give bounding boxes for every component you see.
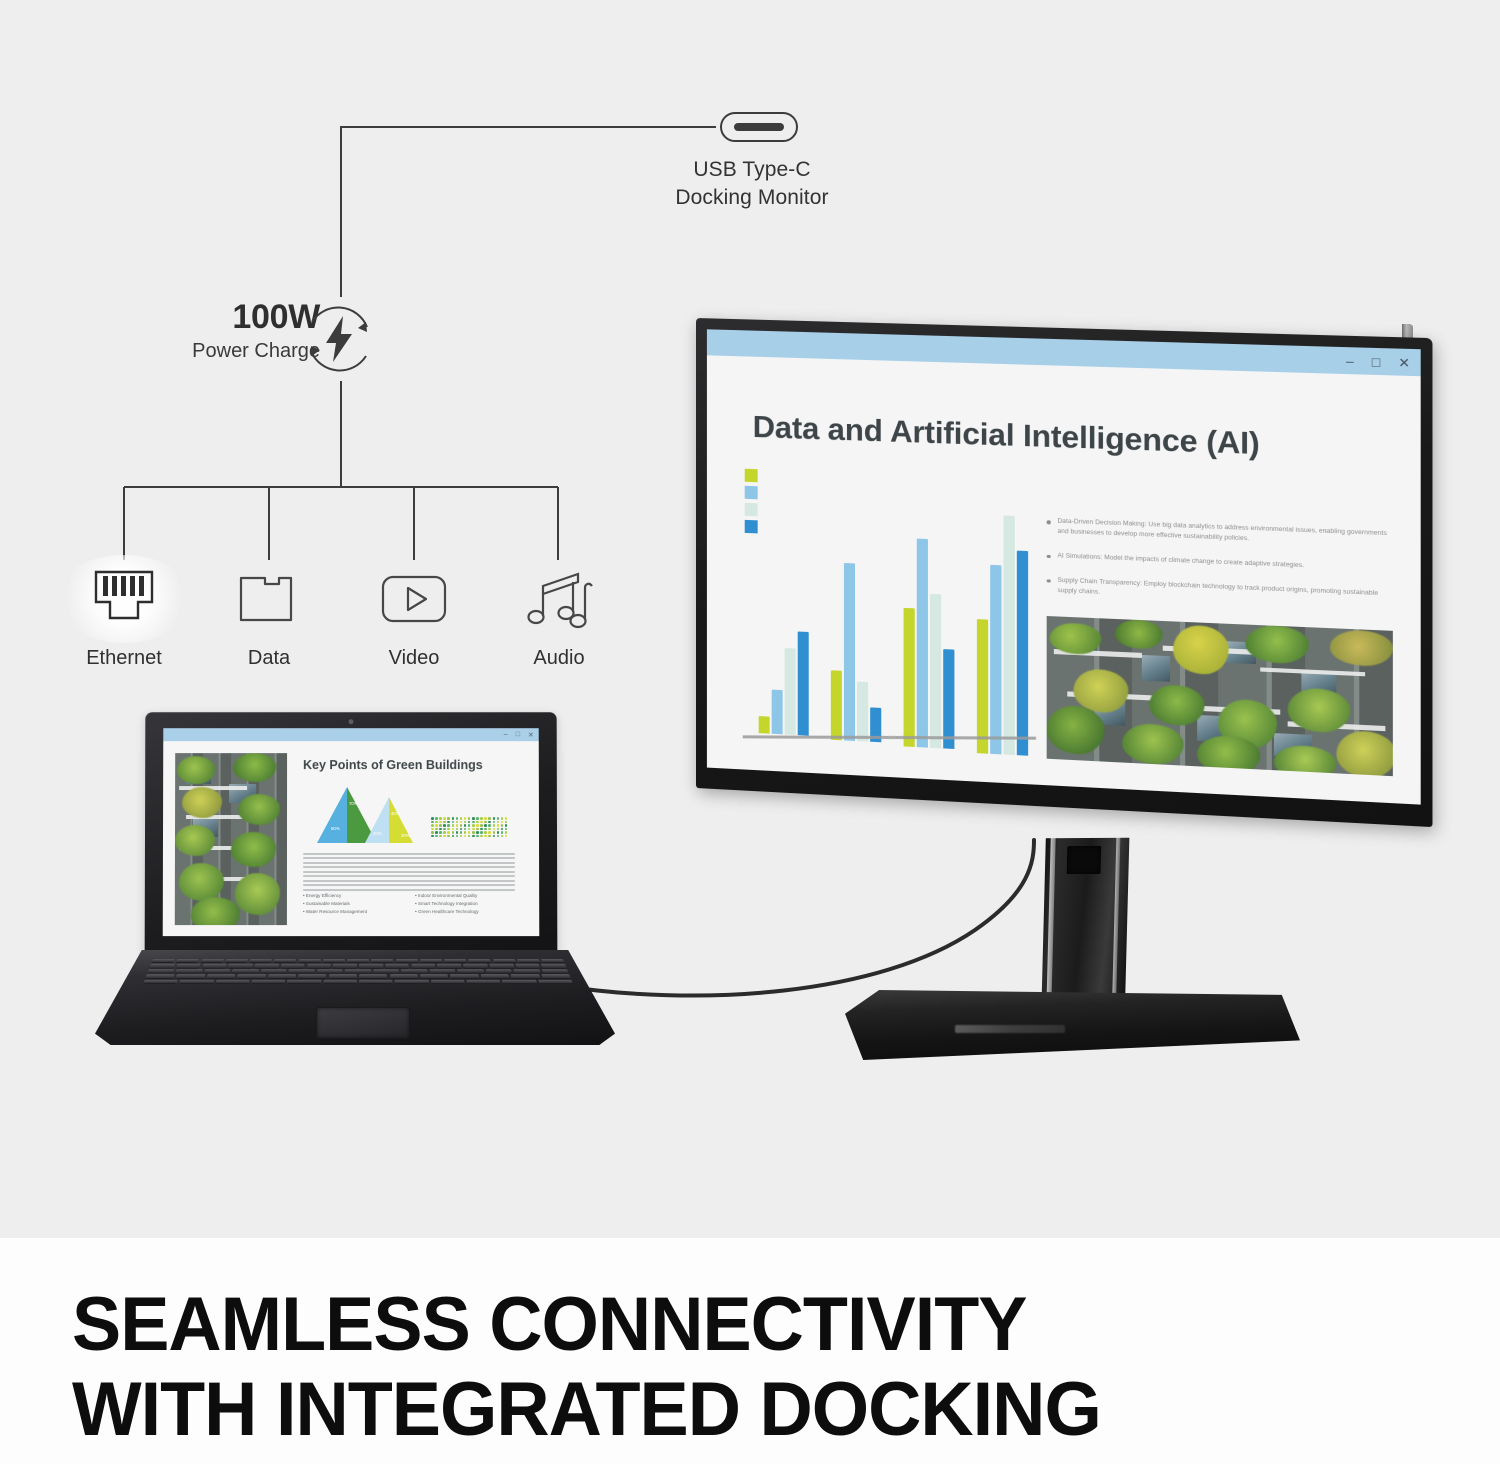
keyboard-key[interactable] xyxy=(359,980,393,984)
green-building-art xyxy=(175,753,287,925)
dot xyxy=(439,821,442,824)
dot xyxy=(439,817,442,820)
keyboard-key[interactable] xyxy=(431,980,465,984)
keyboard-key[interactable] xyxy=(206,974,235,978)
keyboard-key[interactable] xyxy=(511,974,540,978)
svg-text:30%: 30% xyxy=(401,833,410,838)
keyboard-key[interactable] xyxy=(359,974,387,978)
keyboard-key[interactable] xyxy=(237,974,266,978)
docking-monitor: – □ ✕ Data and Artificial Intelligence (… xyxy=(696,318,1422,858)
keyboard-key[interactable] xyxy=(480,974,509,978)
bar xyxy=(1003,515,1014,755)
dot xyxy=(505,821,508,824)
list-item: AI Simulations: Model the impacts of cli… xyxy=(1047,551,1393,575)
keyboard-key[interactable] xyxy=(179,980,214,984)
dot xyxy=(451,824,454,827)
dot xyxy=(472,817,475,820)
folder-icon xyxy=(199,555,339,643)
dot xyxy=(476,831,479,834)
lightning-bolt-charge-icon xyxy=(300,300,378,378)
triangle-infographic: 70% 50% 40% 20% 30% xyxy=(313,783,425,847)
keyboard-key[interactable] xyxy=(202,964,227,968)
keyboard-key[interactable] xyxy=(541,969,568,973)
dot xyxy=(439,831,442,834)
close-icon[interactable]: ✕ xyxy=(528,731,534,739)
bullet-text: Green Healthcare Technology xyxy=(418,909,479,914)
list-item: Data-Driven Decision Making: Use big dat… xyxy=(1047,516,1393,550)
bar xyxy=(772,689,783,734)
keyboard-key[interactable] xyxy=(307,964,331,968)
dot xyxy=(480,828,483,831)
keyboard-key[interactable] xyxy=(176,969,203,973)
keyboard-key[interactable] xyxy=(502,980,537,984)
ethernet-rj45-icon xyxy=(54,555,194,643)
keyboard-row xyxy=(147,969,568,973)
headline: SEAMLESS CONNECTIVITY WITH INTEGRATED DO… xyxy=(72,1282,1391,1452)
maximize-icon[interactable]: □ xyxy=(1372,355,1380,369)
laptop-window-controls[interactable]: – □ ✕ xyxy=(504,728,534,741)
usb-c-label: USB Type-C Docking Monitor xyxy=(617,156,887,211)
keyboard-key[interactable] xyxy=(228,964,253,968)
bullet-text: AI Simulations: Model the impacts of cli… xyxy=(1057,551,1304,571)
dot xyxy=(460,835,463,838)
dot xyxy=(456,828,459,831)
bar xyxy=(917,539,928,748)
dot xyxy=(431,817,434,820)
dot xyxy=(505,835,508,838)
keyboard-key[interactable] xyxy=(489,964,514,968)
dot xyxy=(484,824,487,827)
monitor-bezel: – □ ✕ Data and Artificial Intelligence (… xyxy=(696,318,1432,827)
dot xyxy=(451,828,454,831)
bar xyxy=(759,716,770,734)
laptop-slide-title: Key Points of Green Buildings xyxy=(303,758,483,772)
keyboard-key[interactable] xyxy=(347,959,369,963)
keyboard-key[interactable] xyxy=(466,980,501,984)
bar xyxy=(990,565,1001,755)
keyboard-key[interactable] xyxy=(420,974,449,978)
keyboard-key[interactable] xyxy=(298,974,327,978)
dot xyxy=(492,831,495,834)
bullet-dot xyxy=(1047,520,1051,524)
dot xyxy=(492,828,495,831)
keyboard-key[interactable] xyxy=(485,969,512,973)
keyboard-key[interactable] xyxy=(457,969,484,973)
chart-plot-area xyxy=(753,507,1037,747)
dot xyxy=(497,821,500,824)
keyboard-key[interactable] xyxy=(345,969,371,973)
dot xyxy=(484,817,487,820)
dot xyxy=(435,824,438,827)
dot xyxy=(452,835,455,838)
keyboard-key[interactable] xyxy=(215,980,250,984)
dot xyxy=(460,817,463,820)
monitor-screen: – □ ✕ Data and Artificial Intelligence (… xyxy=(707,329,1421,804)
keyboard-key[interactable] xyxy=(281,964,305,968)
dot xyxy=(468,817,471,820)
laptop-slide-bullets: • Energy Efficiency • Indoor Environment… xyxy=(303,893,521,916)
dot xyxy=(435,828,438,831)
dot xyxy=(439,835,442,838)
port-video: Video xyxy=(344,555,484,670)
dot xyxy=(464,817,467,820)
keyboard-key[interactable] xyxy=(541,974,571,978)
keyboard-key[interactable] xyxy=(541,964,566,968)
dot xyxy=(456,824,459,827)
svg-text:50%: 50% xyxy=(331,826,340,831)
bar xyxy=(930,594,941,748)
dot xyxy=(476,828,479,831)
keyboard-key[interactable] xyxy=(232,969,259,973)
dot xyxy=(435,817,438,820)
keyboard-key[interactable] xyxy=(385,964,409,968)
dot xyxy=(456,821,459,824)
dot xyxy=(480,831,483,834)
bar-group xyxy=(759,630,809,736)
keyboard-row xyxy=(143,980,573,984)
bullet-text: Energy Efficiency xyxy=(306,893,341,898)
keyboard-key[interactable] xyxy=(287,980,321,984)
port-label: Ethernet xyxy=(54,647,194,670)
port-icon-row: Ethernet Data Video xyxy=(60,555,620,690)
dot xyxy=(468,821,471,824)
port-audio: Audio xyxy=(489,555,629,670)
list-item: • Energy Efficiency xyxy=(303,893,409,900)
bar xyxy=(831,671,842,741)
monitor-slide: Data and Artificial Intelligence (AI) xyxy=(707,355,1421,804)
dot xyxy=(439,828,442,831)
dot xyxy=(484,831,487,834)
list-item: • Smart Technology Integration xyxy=(415,901,521,908)
laptop-window-titlebar: – □ ✕ xyxy=(163,728,538,741)
dot xyxy=(505,824,508,827)
headline-line2: WITH INTEGRATED DOCKING xyxy=(72,1367,1391,1452)
svg-text:40%: 40% xyxy=(391,811,400,816)
bullet-text: Supply Chain Transparency: Employ blockc… xyxy=(1057,575,1392,609)
keyboard-key[interactable] xyxy=(541,959,565,963)
keyboard-key[interactable] xyxy=(251,980,285,984)
keyboard-key[interactable] xyxy=(289,969,315,973)
keyboard-key[interactable] xyxy=(371,959,393,963)
dot xyxy=(497,817,500,820)
dot xyxy=(431,821,434,824)
keyboard-key[interactable] xyxy=(411,964,435,968)
laptop-slide: Key Points of Green Buildings 70% 50% 40… xyxy=(163,741,540,936)
bullet-text: Smart Technology Integration xyxy=(418,901,478,906)
bar xyxy=(904,608,915,747)
dot xyxy=(497,831,500,834)
dot xyxy=(435,821,438,824)
dot xyxy=(451,817,454,820)
dot xyxy=(501,824,504,827)
keyboard-key[interactable] xyxy=(429,969,456,973)
dot xyxy=(443,821,446,824)
keyboard-key[interactable] xyxy=(143,980,178,984)
stand-cable-port xyxy=(1067,846,1102,874)
dot xyxy=(472,821,475,824)
legend-swatch xyxy=(745,486,758,500)
bullet-dot xyxy=(1047,579,1051,583)
usb-c-label-line1: USB Type-C xyxy=(617,156,887,184)
bar-group xyxy=(977,514,1028,755)
keyboard-key[interactable] xyxy=(493,959,516,963)
bar xyxy=(1017,551,1028,756)
keyboard-key[interactable] xyxy=(538,980,573,984)
keyboard-key[interactable] xyxy=(389,974,418,978)
dot xyxy=(480,821,483,824)
minimize-icon[interactable]: – xyxy=(504,731,508,738)
headline-line1: SEAMLESS CONNECTIVITY xyxy=(72,1282,1391,1367)
keyboard-key[interactable] xyxy=(513,969,540,973)
keyboard-key[interactable] xyxy=(249,959,272,963)
dot xyxy=(501,821,504,824)
keyboard-key[interactable] xyxy=(420,959,443,963)
keyboard-key[interactable] xyxy=(267,974,296,978)
keyboard-key[interactable] xyxy=(317,969,343,973)
dot xyxy=(456,817,459,820)
dot xyxy=(464,821,467,824)
dot xyxy=(468,835,471,838)
keyboard-key[interactable] xyxy=(200,959,223,963)
dot xyxy=(488,831,491,834)
dot xyxy=(443,817,446,820)
dot xyxy=(468,831,471,834)
power-charge-caption: Power Charge xyxy=(90,341,320,361)
keyboard-key[interactable] xyxy=(468,959,491,963)
bar-group xyxy=(831,562,881,742)
dot xyxy=(488,828,491,831)
keyboard-key[interactable] xyxy=(147,969,174,973)
usb-c-port-icon xyxy=(720,112,798,142)
list-item: • Sustainable Materials xyxy=(303,901,409,908)
dot xyxy=(472,831,475,834)
keyboard-key[interactable] xyxy=(225,959,248,963)
bar-group xyxy=(904,538,955,749)
dot xyxy=(501,828,504,831)
dot xyxy=(492,824,495,827)
dot xyxy=(451,821,454,824)
port-label: Data xyxy=(199,647,339,670)
dot xyxy=(431,824,434,827)
play-button-icon xyxy=(344,555,484,643)
dot xyxy=(497,835,500,838)
laptop-screen: – □ ✕ xyxy=(163,728,540,936)
dot xyxy=(476,821,479,824)
svg-text:20%: 20% xyxy=(373,831,382,836)
keyboard-key[interactable] xyxy=(254,964,279,968)
keyboard-key[interactable] xyxy=(450,974,479,978)
port-data: Data xyxy=(199,555,339,670)
dot xyxy=(447,835,450,838)
dot xyxy=(476,824,479,827)
power-wattage: 100W xyxy=(90,300,320,334)
list-item: • Water Resource Management xyxy=(303,909,409,916)
bar xyxy=(798,632,809,736)
dot xyxy=(505,831,508,834)
laptop: – □ ✕ xyxy=(95,712,615,1067)
monitor-window-controls[interactable]: – □ ✕ xyxy=(1346,347,1410,376)
dot xyxy=(488,835,491,838)
dot xyxy=(472,828,475,831)
dot xyxy=(443,824,446,827)
keyboard-key[interactable] xyxy=(204,969,231,973)
dot xyxy=(484,828,487,831)
slide-photo xyxy=(1047,616,1393,776)
laptop-lid: – □ ✕ xyxy=(145,712,558,957)
dot xyxy=(501,831,504,834)
keyboard-key[interactable] xyxy=(176,959,199,963)
slide-title: Data and Artificial Intelligence (AI) xyxy=(753,409,1260,462)
laptop-trackpad[interactable] xyxy=(317,1008,409,1038)
dot xyxy=(460,824,463,827)
keyboard-key[interactable] xyxy=(176,964,201,968)
bar xyxy=(785,648,796,735)
dot xyxy=(472,835,475,838)
dot xyxy=(492,817,495,820)
bar xyxy=(844,563,855,741)
keyboard-key[interactable] xyxy=(149,964,174,968)
dot xyxy=(480,824,483,827)
keyboard-key[interactable] xyxy=(329,974,357,978)
list-item: • Indoor Environmental Quality xyxy=(415,893,521,900)
dot xyxy=(456,835,459,838)
keyboard-key[interactable] xyxy=(152,959,176,963)
chart-baseline xyxy=(743,735,1036,739)
minimize-icon[interactable]: – xyxy=(1346,354,1354,368)
dot xyxy=(493,835,496,838)
dot xyxy=(505,817,508,820)
keyboard-key[interactable] xyxy=(515,964,540,968)
dot xyxy=(447,824,450,827)
keyboard-key[interactable] xyxy=(260,969,287,973)
dot xyxy=(497,824,500,827)
dot xyxy=(464,828,467,831)
dot xyxy=(447,831,450,834)
bullet-text: Indoor Environmental Quality xyxy=(418,893,477,898)
dot xyxy=(501,817,504,820)
port-label: Audio xyxy=(489,647,629,670)
keyboard-row xyxy=(149,964,566,968)
dot xyxy=(431,831,434,834)
dot xyxy=(468,828,471,831)
dot xyxy=(456,831,459,834)
dot xyxy=(468,824,471,827)
bar xyxy=(943,649,954,749)
dot xyxy=(431,828,434,831)
keyboard-key[interactable] xyxy=(176,974,205,978)
dot xyxy=(476,835,479,838)
dot xyxy=(480,817,483,820)
bar xyxy=(977,619,988,754)
port-ethernet: Ethernet xyxy=(54,555,194,670)
bullet-dot xyxy=(1047,555,1051,559)
keyboard-key[interactable] xyxy=(444,959,467,963)
dot xyxy=(488,821,491,824)
svg-text:70%: 70% xyxy=(349,801,358,806)
bar-chart xyxy=(735,466,1037,767)
dot xyxy=(447,828,450,831)
keyboard-key[interactable] xyxy=(463,964,488,968)
dot xyxy=(460,831,463,834)
dot xyxy=(488,824,491,827)
keyboard-key[interactable] xyxy=(401,969,427,973)
dot xyxy=(488,817,491,820)
dot xyxy=(484,835,487,838)
keyboard-key[interactable] xyxy=(145,974,175,978)
webcam-icon xyxy=(349,719,354,724)
port-label: Video xyxy=(344,647,484,670)
list-item: Supply Chain Transparency: Employ blockc… xyxy=(1047,575,1393,610)
keyboard-key[interactable] xyxy=(437,964,462,968)
dot xyxy=(460,828,463,831)
close-icon[interactable]: ✕ xyxy=(1398,355,1410,369)
dot xyxy=(435,835,438,838)
dot xyxy=(497,828,500,831)
dot xyxy=(505,828,508,831)
dot xyxy=(460,821,463,824)
keyboard-row xyxy=(145,974,571,978)
keyboard-key[interactable] xyxy=(333,964,357,968)
dot xyxy=(435,831,438,834)
dot xyxy=(476,817,479,820)
dot xyxy=(464,831,467,834)
list-item: • Green Healthcare Technology xyxy=(415,909,521,916)
keyboard-key[interactable] xyxy=(298,959,320,963)
bullet-text: Sustainable Materials xyxy=(306,901,350,906)
dot xyxy=(501,835,504,838)
dot-matrix-chart xyxy=(431,817,509,839)
keyboard-key[interactable] xyxy=(395,980,429,984)
keyboard-key[interactable] xyxy=(396,959,418,963)
usb-c-slot xyxy=(734,123,784,131)
brand-logo xyxy=(955,1025,1065,1033)
dot xyxy=(447,821,450,824)
laptop-slide-paragraph xyxy=(303,853,515,893)
music-notes-icon xyxy=(489,555,629,643)
bullet-text: Water Resource Management xyxy=(306,909,367,914)
usb-c-label-line2: Docking Monitor xyxy=(617,184,887,212)
keyboard-key[interactable] xyxy=(373,969,399,973)
dot xyxy=(447,817,450,820)
dot xyxy=(443,835,446,838)
slide-bullet-list: Data-Driven Decision Making: Use big dat… xyxy=(1047,516,1393,624)
laptop-keyboard[interactable] xyxy=(143,959,573,984)
laptop-slide-photo xyxy=(175,753,287,925)
dot xyxy=(472,824,475,827)
bullet-text: Data-Driven Decision Making: Use big dat… xyxy=(1057,517,1392,550)
maximize-icon[interactable]: □ xyxy=(516,731,520,738)
marketing-image: USB Type-C Docking Monitor 100W Power Ch… xyxy=(0,0,1500,1464)
dot xyxy=(443,828,446,831)
dot xyxy=(443,831,446,834)
keyboard-key[interactable] xyxy=(322,959,344,963)
dot xyxy=(492,821,495,824)
green-building-art xyxy=(1047,616,1393,776)
legend-swatch xyxy=(745,469,758,483)
dot xyxy=(431,835,434,838)
dot xyxy=(439,824,442,827)
keyboard-key[interactable] xyxy=(517,959,540,963)
keyboard-key[interactable] xyxy=(274,959,297,963)
power-charge-text: 100W Power Charge xyxy=(90,300,320,361)
dot xyxy=(484,821,487,824)
keyboard-key[interactable] xyxy=(323,980,357,984)
keyboard-row xyxy=(152,959,565,963)
keyboard-key[interactable] xyxy=(359,964,383,968)
dot xyxy=(464,835,467,838)
dot xyxy=(451,831,454,834)
bar xyxy=(857,682,868,742)
